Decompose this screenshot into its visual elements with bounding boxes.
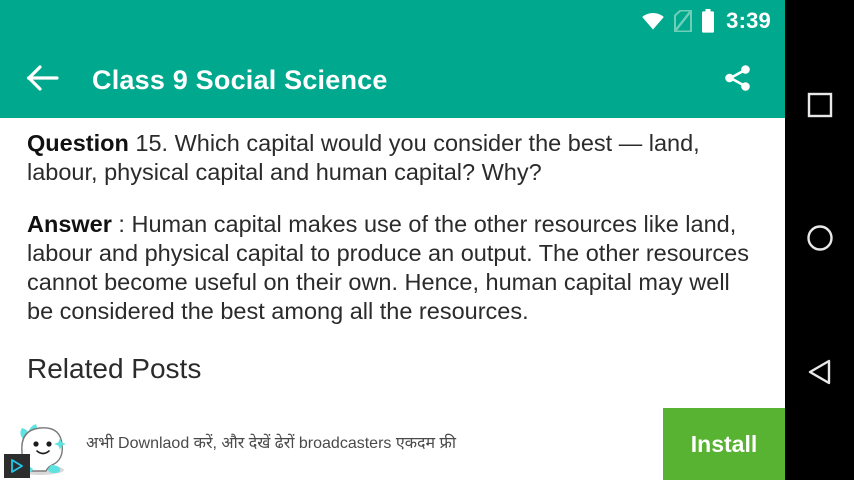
circle-icon	[804, 222, 836, 259]
answer-paragraph: Answer : Human capital makes use of the …	[27, 187, 758, 326]
ad-banner[interactable]: अभी Downlaod करें, और देखें ढेरों broadc…	[0, 407, 785, 480]
no-sim-icon	[674, 10, 692, 32]
question-text: 15. Which capital would you consider the…	[27, 130, 700, 185]
device-screen: 3:39 Class 9 Social Science	[0, 0, 854, 480]
question-label: Question	[27, 130, 129, 156]
app-window: 3:39 Class 9 Social Science	[0, 0, 785, 480]
status-bar: 3:39	[0, 0, 785, 42]
square-icon	[805, 90, 835, 125]
article-content[interactable]: y Question 15. Which capital would you c…	[0, 118, 785, 407]
wifi-icon	[641, 11, 665, 31]
triangle-left-icon	[804, 356, 836, 393]
adchoices-icon[interactable]	[4, 454, 30, 478]
answer-label: Answer	[27, 211, 112, 237]
ad-icon-container	[4, 410, 72, 478]
answer-text: : Human capital makes use of the other r…	[27, 211, 749, 324]
nav-recents-button[interactable]	[785, 77, 854, 137]
app-toolbar: Class 9 Social Science	[0, 42, 785, 118]
ad-headline: अभी Downlaod करें, और देखें ढेरों broadc…	[86, 434, 663, 454]
system-navigation-bar	[785, 0, 854, 480]
back-button[interactable]	[14, 51, 72, 109]
question-paragraph: Question 15. Which capital would you con…	[27, 118, 758, 187]
related-posts-heading: Related Posts	[27, 326, 758, 386]
install-button[interactable]: Install	[663, 408, 785, 480]
page-title: Class 9 Social Science	[92, 65, 388, 96]
battery-icon	[701, 9, 715, 33]
nav-back-button[interactable]	[785, 344, 854, 404]
status-bar-clock: 3:39	[726, 10, 771, 33]
share-button[interactable]	[709, 51, 767, 109]
share-icon	[723, 63, 753, 98]
nav-home-button[interactable]	[785, 210, 854, 270]
arrow-left-icon	[26, 64, 60, 97]
